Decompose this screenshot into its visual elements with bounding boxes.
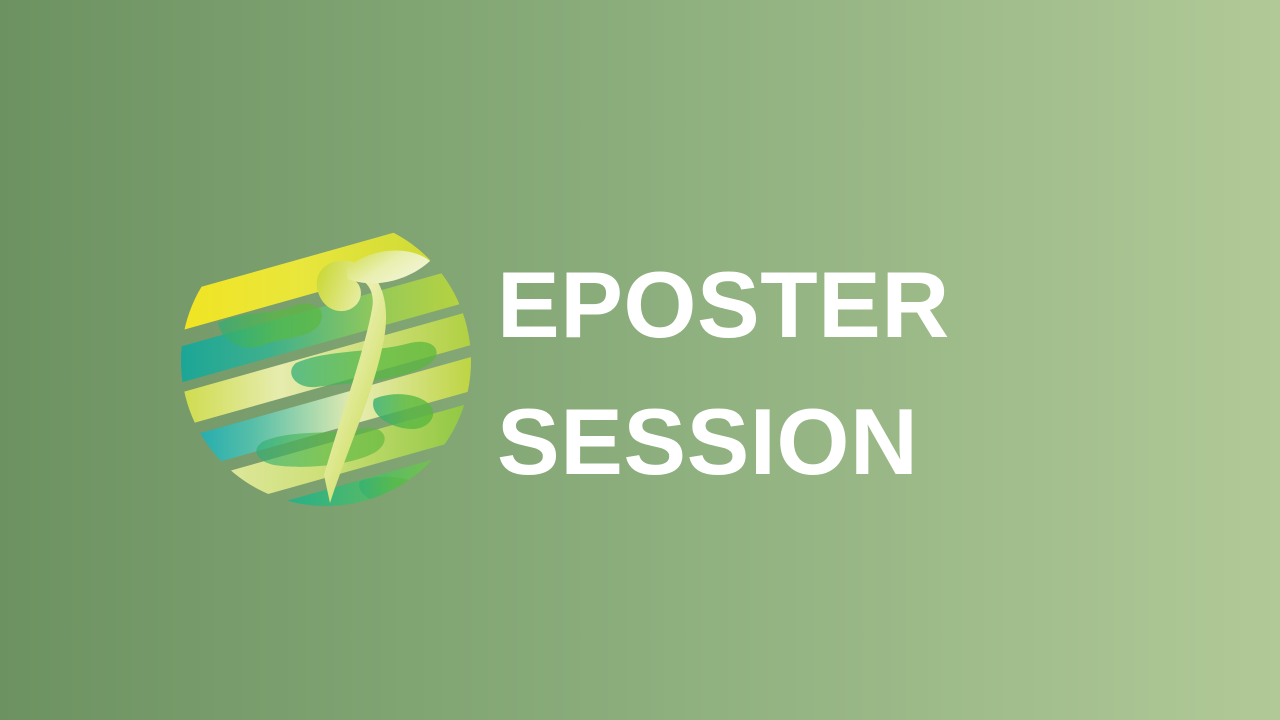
eposter-session-slide: EPOSTER SESSION bbox=[0, 0, 1280, 720]
eposter-globe-leaf-logo bbox=[178, 203, 478, 518]
title-line-eposter: EPOSTER bbox=[497, 236, 1097, 373]
title-line-session: SESSION bbox=[497, 373, 1097, 510]
page-title: EPOSTER SESSION bbox=[497, 236, 1097, 510]
